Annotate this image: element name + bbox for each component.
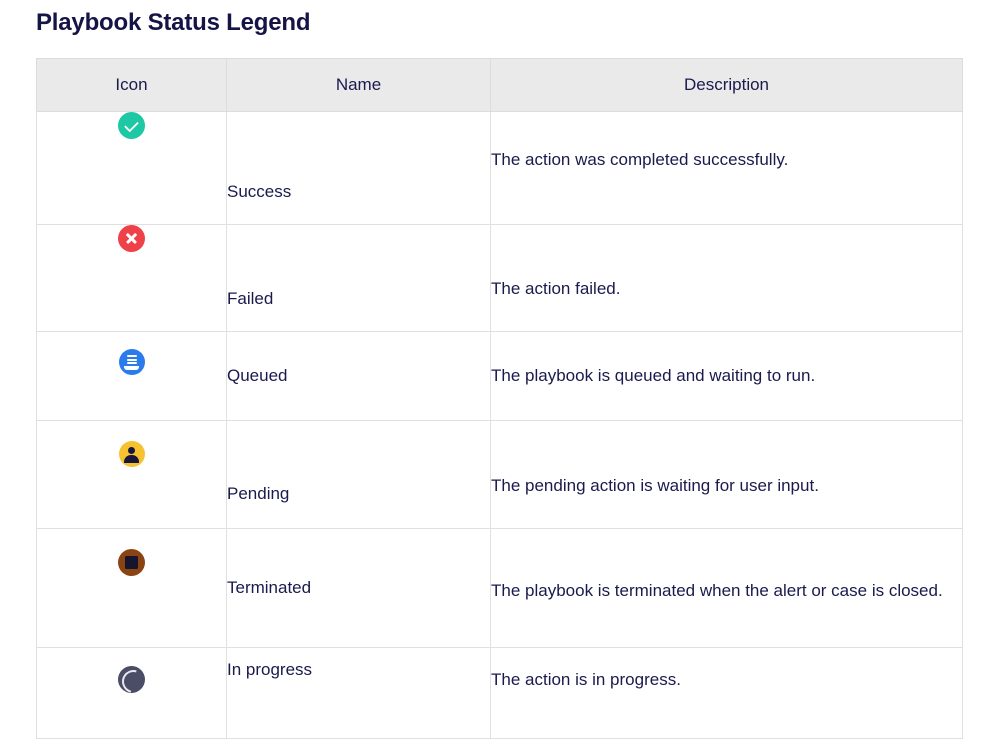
table-row: In progress The action is in progress. bbox=[37, 648, 963, 739]
table-row: Success The action was completed success… bbox=[37, 112, 963, 225]
playbook-status-legend-table: Icon Name Description Success The action… bbox=[36, 58, 963, 739]
failed-x-icon bbox=[118, 225, 145, 252]
status-description: The action was completed successfully. bbox=[491, 112, 963, 225]
legend-page: Playbook Status Legend Icon Name Descrip… bbox=[0, 0, 1004, 656]
column-header-icon: Icon bbox=[37, 59, 227, 112]
pending-user-icon bbox=[119, 441, 145, 467]
status-icon-cell bbox=[37, 421, 227, 529]
status-name: In progress bbox=[227, 648, 491, 739]
status-name: Queued bbox=[227, 332, 491, 421]
status-description: The playbook is terminated when the aler… bbox=[491, 529, 963, 648]
status-description: The action is in progress. bbox=[491, 648, 963, 739]
in-progress-spinner-icon bbox=[118, 666, 145, 693]
table-header-row: Icon Name Description bbox=[37, 59, 963, 112]
column-header-description: Description bbox=[491, 59, 963, 112]
status-name: Success bbox=[227, 112, 491, 225]
status-icon-cell bbox=[37, 332, 227, 421]
status-icon-cell bbox=[37, 112, 227, 225]
table-row: Failed The action failed. bbox=[37, 225, 963, 332]
table-row: Queued The playbook is queued and waitin… bbox=[37, 332, 963, 421]
queued-stack-icon bbox=[119, 349, 145, 375]
success-check-icon bbox=[118, 112, 145, 139]
table-row: Terminated The playbook is terminated wh… bbox=[37, 529, 963, 648]
page-title: Playbook Status Legend bbox=[36, 8, 310, 38]
table-row: Pending The pending action is waiting fo… bbox=[37, 421, 963, 529]
status-icon-cell bbox=[37, 529, 227, 648]
column-header-name: Name bbox=[227, 59, 491, 112]
status-description: The pending action is waiting for user i… bbox=[491, 421, 963, 529]
terminated-stop-icon bbox=[118, 549, 145, 576]
status-icon-cell bbox=[37, 648, 227, 739]
status-name: Failed bbox=[227, 225, 491, 332]
status-name: Pending bbox=[227, 421, 491, 529]
status-description: The action failed. bbox=[491, 225, 963, 332]
status-description: The playbook is queued and waiting to ru… bbox=[491, 332, 963, 421]
status-name: Terminated bbox=[227, 529, 491, 648]
status-icon-cell bbox=[37, 225, 227, 332]
